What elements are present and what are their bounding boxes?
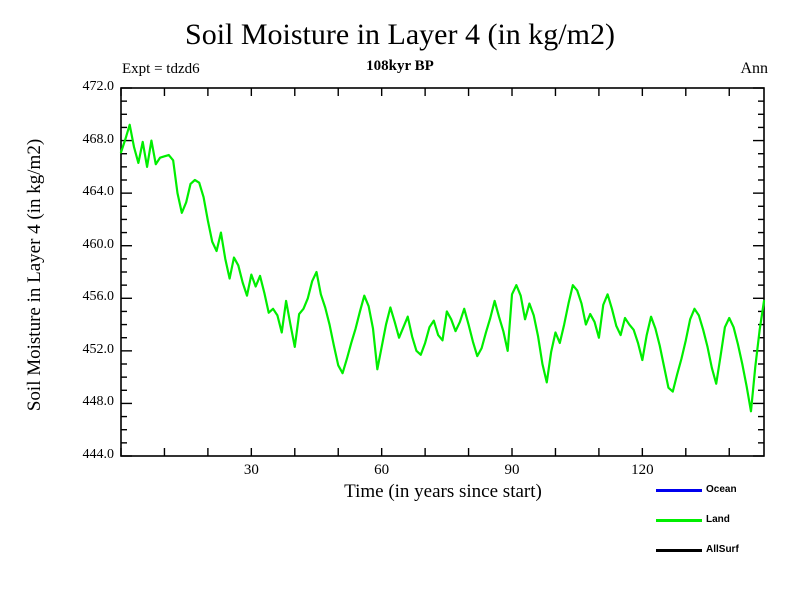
legend-label: Land — [706, 512, 730, 528]
legend-label: AllSurf — [706, 542, 739, 558]
series-line-land — [121, 125, 764, 412]
x-tick-label: 30 — [231, 462, 271, 479]
x-tick-label: 90 — [492, 462, 532, 479]
y-tick-label: 444.0 — [58, 447, 114, 463]
legend-color-swatch — [656, 519, 702, 522]
y-tick-label: 448.0 — [58, 394, 114, 410]
y-tick-label: 464.0 — [58, 184, 114, 200]
legend-color-swatch — [656, 549, 702, 552]
axes-frame — [121, 88, 764, 456]
y-tick-label: 452.0 — [58, 342, 114, 358]
y-tick-label: 468.0 — [58, 132, 114, 148]
y-tick-label: 460.0 — [58, 237, 114, 253]
y-tick-label: 472.0 — [58, 79, 114, 95]
y-tick-label: 456.0 — [58, 289, 114, 305]
chart-page: Soil Moisture in Layer 4 (in kg/m2) 108k… — [0, 0, 800, 600]
data-series-group — [121, 125, 764, 412]
x-tick-label: 60 — [362, 462, 402, 479]
x-tick-label: 120 — [622, 462, 662, 479]
legend-color-swatch — [656, 489, 702, 492]
legend-label: Ocean — [706, 482, 737, 498]
legend: OceanLandAllSurf — [656, 482, 796, 562]
